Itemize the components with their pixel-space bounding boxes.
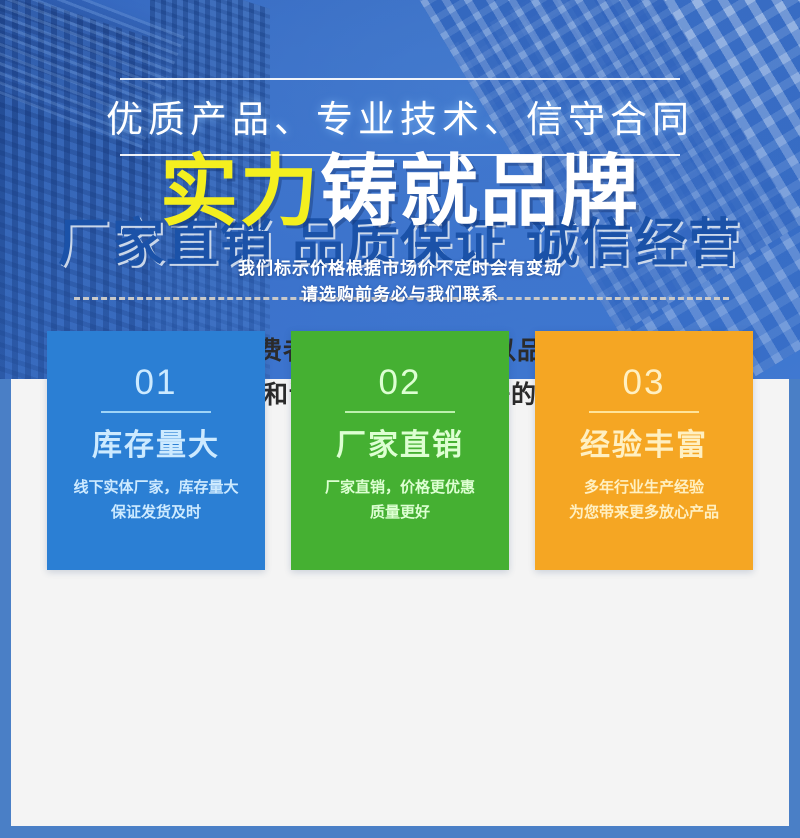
subtitle-block: 我们标示价格根据市场价不定时会有变动 请选购前务必与我们联系 (0, 256, 800, 308)
card-number-02: 02 (291, 365, 509, 400)
card-desc-02-line-1: 厂家直销，价格更优惠 (291, 475, 509, 500)
frame-left-border (0, 379, 11, 838)
main-title-rest: 铸就品牌 (320, 147, 640, 235)
subtitle-line-2: 请选购前务必与我们联系 (0, 282, 800, 308)
card-desc-02-line-2: 质量更好 (291, 500, 509, 525)
header-tagline: 优质产品、专业技术、信守合同 (0, 80, 800, 154)
card-desc-01-line-1: 线下实体厂家，库存量大 (47, 475, 265, 500)
card-title-03: 经验丰富 (535, 429, 753, 462)
card-title-01: 库存量大 (47, 429, 265, 462)
subtitle-line-1: 我们标示价格根据市场价不定时会有变动 (0, 256, 800, 282)
card-number-rule-03 (589, 411, 699, 413)
feature-card-01[interactable]: 01 库存量大 线下实体厂家，库存量大 保证发货及时 (47, 331, 265, 570)
feature-cards: 01 库存量大 线下实体厂家，库存量大 保证发货及时 02 厂家直销 厂家直销，… (47, 331, 753, 570)
promo-banner: 优质产品、专业技术、信守合同 实力铸就品牌 我们标示价格根据市场价不定时会有变动… (0, 0, 800, 838)
card-number-rule-01 (101, 411, 211, 413)
feature-card-02[interactable]: 02 厂家直销 厂家直销，价格更优惠 质量更好 (291, 331, 509, 570)
main-title: 实力铸就品牌 (0, 152, 800, 230)
main-title-highlight: 实力 (160, 147, 320, 235)
card-number-01: 01 (47, 365, 265, 400)
card-number-rule-02 (345, 411, 455, 413)
card-title-02: 厂家直销 (291, 429, 509, 462)
card-desc-03-line-1: 多年行业生产经验 (535, 475, 753, 500)
card-desc-01-line-2: 保证发货及时 (47, 500, 265, 525)
frame-right-border (789, 379, 800, 838)
card-desc-03-line-2: 为您带来更多放心产品 (535, 500, 753, 525)
header-tagline-block: 优质产品、专业技术、信守合同 (0, 78, 800, 156)
frame-bottom-border (0, 826, 800, 838)
feature-card-03[interactable]: 03 经验丰富 多年行业生产经验 为您带来更多放心产品 (535, 331, 753, 570)
card-number-03: 03 (535, 365, 753, 400)
